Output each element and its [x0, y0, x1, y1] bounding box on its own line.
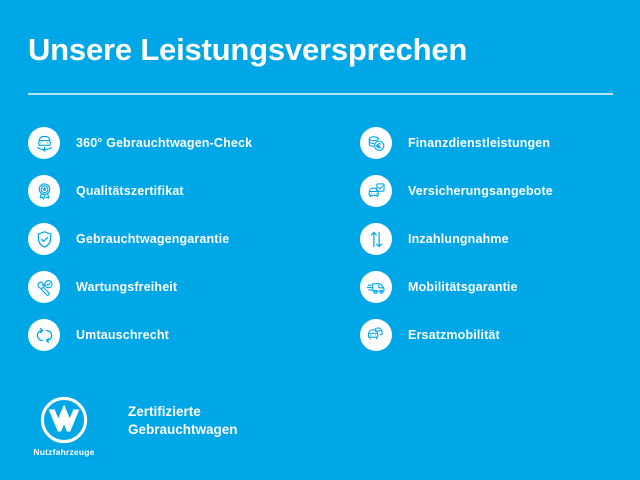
- promise-item: Wartungsfreiheit: [28, 263, 330, 311]
- two-cars-icon: [360, 319, 392, 351]
- promise-label: Umtauschrecht: [76, 328, 169, 342]
- promise-item: Mobilitätsgarantie: [360, 263, 640, 311]
- promise-label: Versicherungsangebote: [408, 184, 553, 198]
- award-medal-icon: [28, 175, 60, 207]
- coins-euro-icon: [360, 127, 392, 159]
- promise-item: Finanzdienstleistungen: [360, 119, 640, 167]
- wrench-check-icon: [28, 271, 60, 303]
- promises-grid: 360° Gebrauchtwagen-Check Qualitätszerti…: [0, 119, 640, 359]
- promise-label: 360° Gebrauchtwagen-Check: [76, 136, 252, 150]
- title-divider: [28, 93, 613, 95]
- promise-label: Gebrauchtwagengarantie: [76, 232, 229, 246]
- car-document-check-icon: [360, 175, 392, 207]
- footer-tagline: Zertifizierte Gebrauchtwagen: [128, 403, 238, 439]
- promise-item: Versicherungsangebote: [360, 167, 640, 215]
- logo-sublabel: Nutzfahrzeuge: [33, 447, 94, 457]
- exchange-arrows-icon: [28, 319, 60, 351]
- car-360-check-icon: [28, 127, 60, 159]
- promise-label: Ersatzmobilität: [408, 328, 500, 342]
- promise-label: Finanzdienstleistungen: [408, 136, 550, 150]
- promise-label: Inzahlungnahme: [408, 232, 509, 246]
- slide-root: Unsere Leistungsversprechen 360° Ge: [0, 0, 640, 480]
- promise-item: 360° Gebrauchtwagen-Check: [28, 119, 330, 167]
- promise-item: Gebrauchtwagengarantie: [28, 215, 330, 263]
- volkswagen-logo-block: Nutzfahrzeuge: [28, 396, 100, 457]
- promise-label: Qualitätszertifikat: [76, 184, 184, 198]
- promises-column-right: Finanzdienstleistungen Versicherungsange…: [330, 119, 640, 359]
- volkswagen-logo: [40, 396, 88, 444]
- promise-item: Inzahlungnahme: [360, 215, 640, 263]
- shield-check-icon: [28, 223, 60, 255]
- promises-column-left: 360° Gebrauchtwagen-Check Qualitätszerti…: [0, 119, 330, 359]
- promise-label: Wartungsfreiheit: [76, 280, 177, 294]
- promise-label: Mobilitätsgarantie: [408, 280, 518, 294]
- footer-tagline-line1: Zertifizierte: [128, 403, 238, 421]
- van-motion-icon: [360, 271, 392, 303]
- footer-branding: Nutzfahrzeuge Zertifizierte Gebrauchtwag…: [28, 396, 238, 457]
- promise-item: Umtauschrecht: [28, 311, 330, 359]
- promise-item: Ersatzmobilität: [360, 311, 640, 359]
- footer-tagline-line2: Gebrauchtwagen: [128, 421, 238, 439]
- page-title: Unsere Leistungsversprechen: [28, 32, 467, 68]
- promise-item: Qualitätszertifikat: [28, 167, 330, 215]
- up-down-arrows-icon: [360, 223, 392, 255]
